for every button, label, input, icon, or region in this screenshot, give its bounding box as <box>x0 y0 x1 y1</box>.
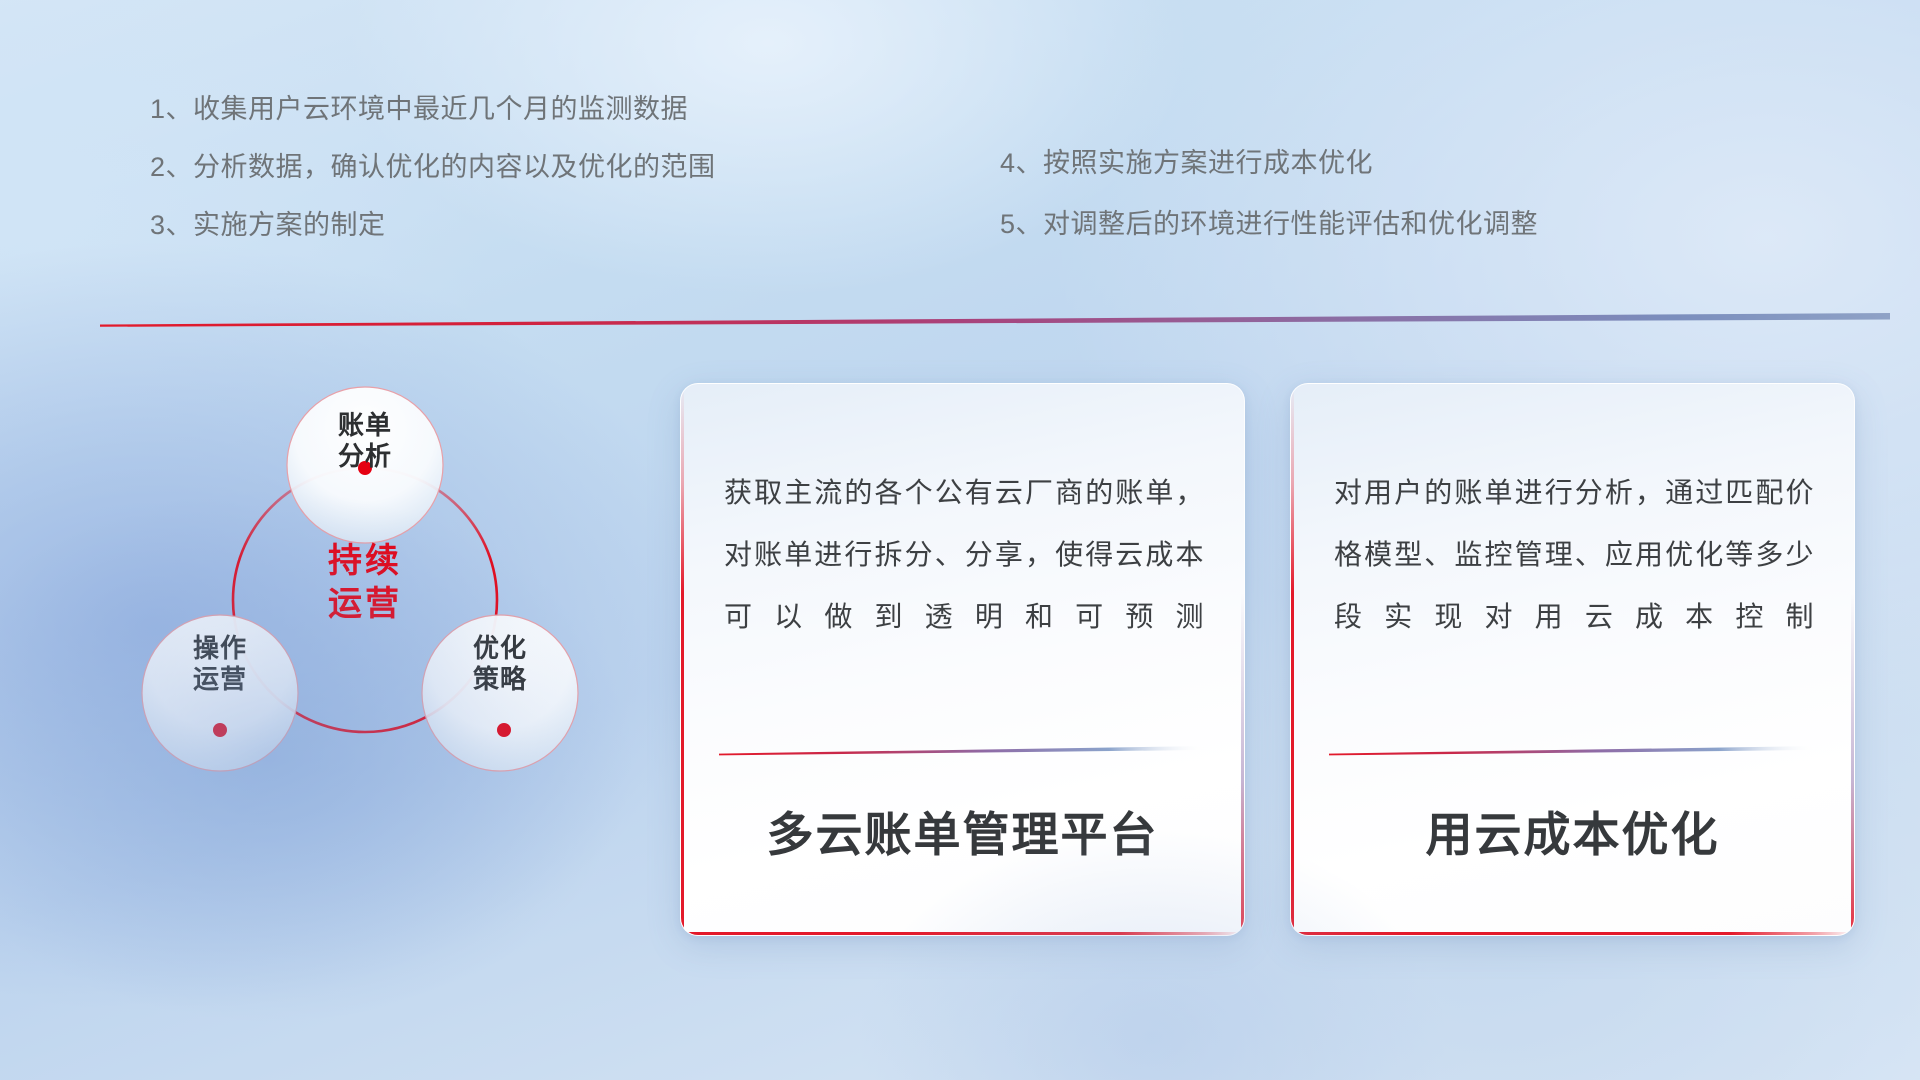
card-description: 获取主流的各个公有云厂商的账单，对账单进行拆分、分享，使得云成本可以做到透明和可… <box>724 462 1204 648</box>
card-accent-right-edge <box>1241 593 1244 935</box>
card-title: 多云账单管理平台 <box>681 796 1244 865</box>
card-accent-bottom-edge <box>681 932 1244 935</box>
step-item-3: 3、实施方案的制定 <box>150 212 850 239</box>
step-item-4: 4、按照实施方案进行成本优化 <box>1000 150 1760 177</box>
card-accent-bottom-edge <box>1291 932 1854 935</box>
step-item-1: 1、收集用户云环境中最近几个月的监测数据 <box>150 96 850 123</box>
venn-node-bill-analysis: 账单 分析 <box>305 410 425 472</box>
card-body: 对用户的账单进行分析，通过匹配价格模型、监控管理、应用优化等多少段实现对用云成本… <box>1334 462 1814 648</box>
slide-canvas: 1、收集用户云环境中最近几个月的监测数据 2、分析数据，确认优化的内容以及优化的… <box>0 0 1920 1080</box>
venn-node-operations: 操作 运营 <box>160 633 280 695</box>
continuous-operation-diagram: 账单 分析 操作 运营 优化 策略 持续 运营 <box>95 355 615 825</box>
card-divider-rule <box>1329 746 1816 756</box>
card-body: 获取主流的各个公有云厂商的账单，对账单进行拆分、分享，使得云成本可以做到透明和可… <box>724 462 1204 648</box>
info-card-cloud-cost-optimization[interactable]: 对用户的账单进行分析，通过匹配价格模型、监控管理、应用优化等多少段实现对用云成本… <box>1290 383 1855 936</box>
card-description: 对用户的账单进行分析，通过匹配价格模型、监控管理、应用优化等多少段实现对用云成本… <box>1334 462 1814 648</box>
venn-node-optimization: 优化 策略 <box>440 633 560 695</box>
card-title: 用云成本优化 <box>1291 796 1854 865</box>
info-card-multi-cloud-billing[interactable]: 获取主流的各个公有云厂商的账单，对账单进行拆分、分享，使得云成本可以做到透明和可… <box>680 383 1245 936</box>
section-divider <box>100 313 1890 327</box>
step-item-5: 5、对调整后的环境进行性能评估和优化调整 <box>1000 211 1760 238</box>
card-accent-right-edge <box>1851 593 1854 935</box>
card-divider-rule <box>719 746 1206 756</box>
venn-center-label: 持续 运营 <box>275 540 455 625</box>
steps-list-left: 1、收集用户云环境中最近几个月的监测数据 2、分析数据，确认优化的内容以及优化的… <box>150 96 850 270</box>
steps-list-right: 4、按照实施方案进行成本优化 5、对调整后的环境进行性能评估和优化调整 <box>1000 150 1760 272</box>
step-item-2: 2、分析数据，确认优化的内容以及优化的范围 <box>150 154 850 181</box>
